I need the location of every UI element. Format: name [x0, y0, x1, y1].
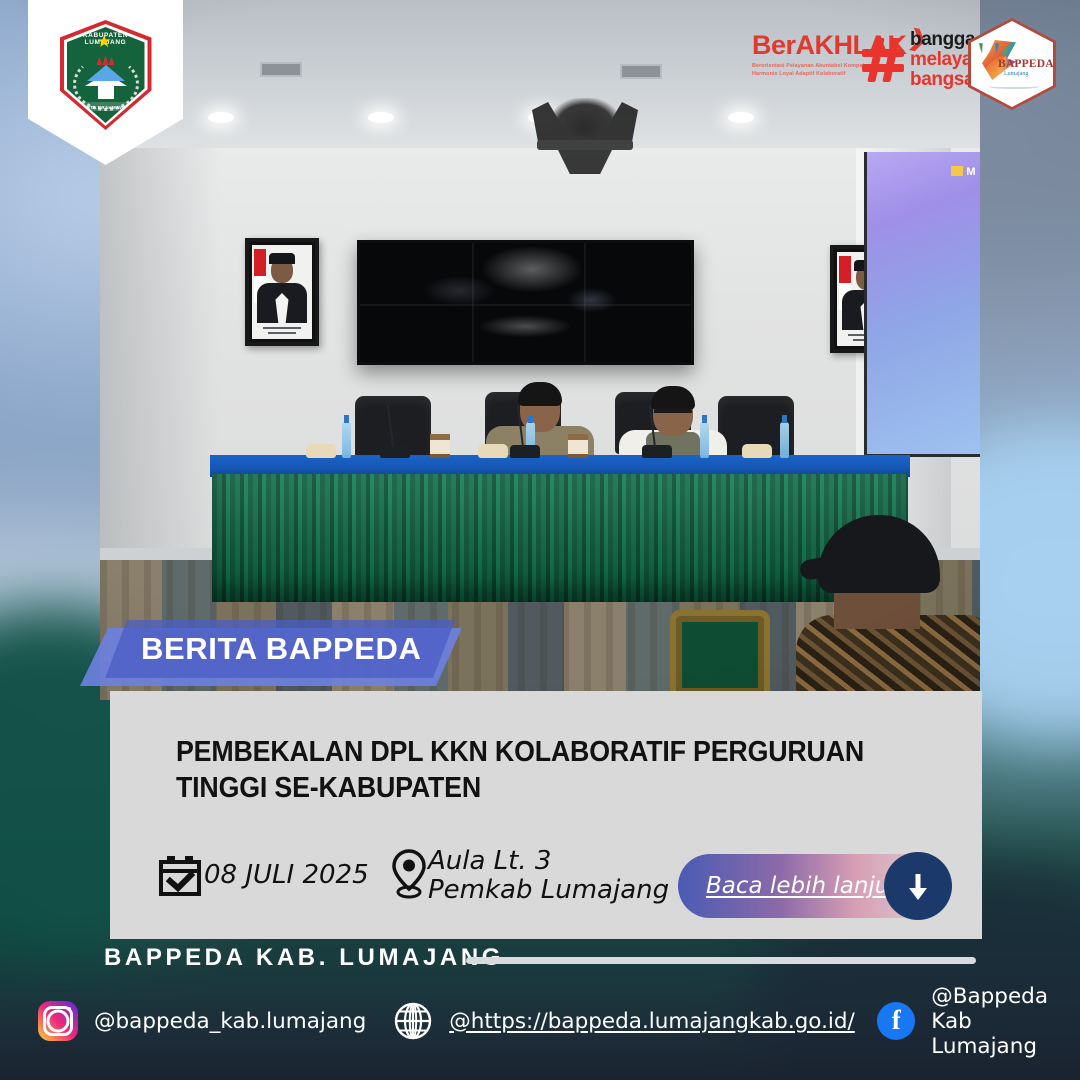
social-instagram[interactable]: @bappeda_kab.lumajang [38, 1001, 366, 1041]
coffee-cup [430, 434, 450, 458]
crest-monument [85, 65, 127, 99]
hashtag-icon [862, 38, 904, 82]
snack-plate [742, 444, 772, 458]
monument-roof-inner [87, 65, 125, 81]
projector-screen: M [864, 152, 980, 457]
portrait-caption [252, 325, 312, 337]
screen-badge-text: M [966, 166, 976, 178]
foreground-attendee [800, 515, 980, 700]
snack-plate [478, 444, 508, 458]
arrow-down-icon [901, 869, 935, 903]
microphone [510, 445, 540, 458]
water-bottle [780, 422, 789, 458]
wall-television [357, 240, 694, 365]
table-items [210, 418, 910, 458]
water-bottle [700, 422, 709, 458]
event-location: Aula Lt. 3 Pemkab Lumajang [390, 847, 669, 905]
hashtag-stroke [882, 38, 899, 82]
crest-graphic: KABUPATEN LUMAJANG AMERTA BRAHMAWIDYA [60, 20, 152, 130]
hexagon-title: BAPPEDA [998, 58, 1054, 70]
microphone [380, 445, 410, 458]
hashtag-stroke [862, 64, 904, 72]
instagram-icon [38, 1001, 78, 1041]
event-photo: M [100, 0, 980, 700]
read-more-label[interactable]: Baca lebih lanjut [706, 873, 898, 899]
official-portrait-left [245, 238, 319, 346]
map-pin-icon [390, 849, 428, 899]
garuda-wing-left [532, 102, 572, 142]
social-links-row: @bappeda_kab.lumajang @https://bappeda.l… [38, 995, 1048, 1047]
snack-plate [306, 444, 336, 458]
speaker-hair [518, 382, 562, 406]
globe-icon [393, 1001, 433, 1041]
event-date: 08 JULI 2025 [158, 855, 369, 897]
tv-seam [472, 243, 474, 362]
attendee-chair [670, 610, 770, 700]
ceiling-light [208, 112, 234, 123]
hashtag-stroke [867, 38, 884, 82]
bappeda-hexagon-logo: BAPPEDA Lumajang [968, 18, 1056, 110]
event-date-text: 08 JULI 2025 [204, 861, 369, 890]
water-bottle [342, 422, 351, 458]
garuda-ribbon [537, 140, 633, 150]
facebook-handle[interactable]: @Bappeda Kab Lumajang [931, 984, 1048, 1059]
garuda-emblem [530, 98, 640, 170]
berita-bappeda-banner: BERITA BAPPEDA [105, 620, 455, 678]
footer-brand: BAPPEDA KAB. LUMAJANG [104, 944, 504, 972]
portrait-peci [269, 253, 295, 264]
photo-wall-shadow [100, 148, 220, 548]
tv-seam [360, 304, 691, 306]
ceiling-vent [620, 64, 662, 79]
crest-field-green: KABUPATEN LUMAJANG AMERTA BRAHMAWIDYA [67, 27, 145, 123]
attendee-cap [818, 515, 940, 593]
coffee-cup [568, 434, 588, 458]
poster-canvas: M [0, 0, 1080, 1080]
speaker-hair [651, 386, 695, 410]
location-line-1: Aula Lt. 3 [428, 846, 551, 876]
hexagon-subtitle: Lumajang [1004, 71, 1028, 77]
portrait-inner [252, 245, 312, 339]
scroll-down-button[interactable] [884, 852, 952, 920]
tv-seam [584, 243, 586, 362]
screen-badge: M [951, 166, 976, 178]
social-website[interactable]: @https://bappeda.lumajangkab.go.id/ [393, 1001, 855, 1041]
speaker-glasses [654, 410, 692, 418]
hashtag-stroke [862, 49, 904, 57]
instagram-dot [67, 1007, 71, 1011]
garuda-wing-right [598, 102, 638, 142]
ceiling-light [728, 112, 754, 123]
ceiling-vent [260, 62, 302, 77]
website-handle[interactable]: @https://bappeda.lumajangkab.go.id/ [449, 1009, 855, 1034]
footer-divider [466, 957, 976, 964]
microphone [642, 445, 672, 458]
news-title: PEMBEKALAN DPL KKN KOLABORATIF PERGURUAN… [176, 735, 919, 807]
monument-base [98, 85, 114, 99]
berakhlak-subtitle: Berorientasi Pelayanan Akuntabel Kompete… [752, 62, 880, 78]
location-line-2: Pemkab Lumajang [428, 875, 669, 905]
facebook-f-glyph: f [892, 1005, 901, 1036]
screen-badge-square [951, 166, 963, 176]
event-location-text: Aula Lt. 3 Pemkab Lumajang [428, 847, 669, 905]
hexagon-underline [988, 82, 1040, 89]
banner-label: BERITA BAPPEDA [141, 631, 422, 667]
ceiling-light [368, 112, 394, 123]
instagram-handle[interactable]: @bappeda_kab.lumajang [94, 1009, 366, 1034]
social-facebook[interactable]: f @Bappeda Kab Lumajang [877, 984, 1048, 1059]
facebook-icon: f [877, 1002, 915, 1040]
calendar-check-icon [158, 855, 204, 897]
